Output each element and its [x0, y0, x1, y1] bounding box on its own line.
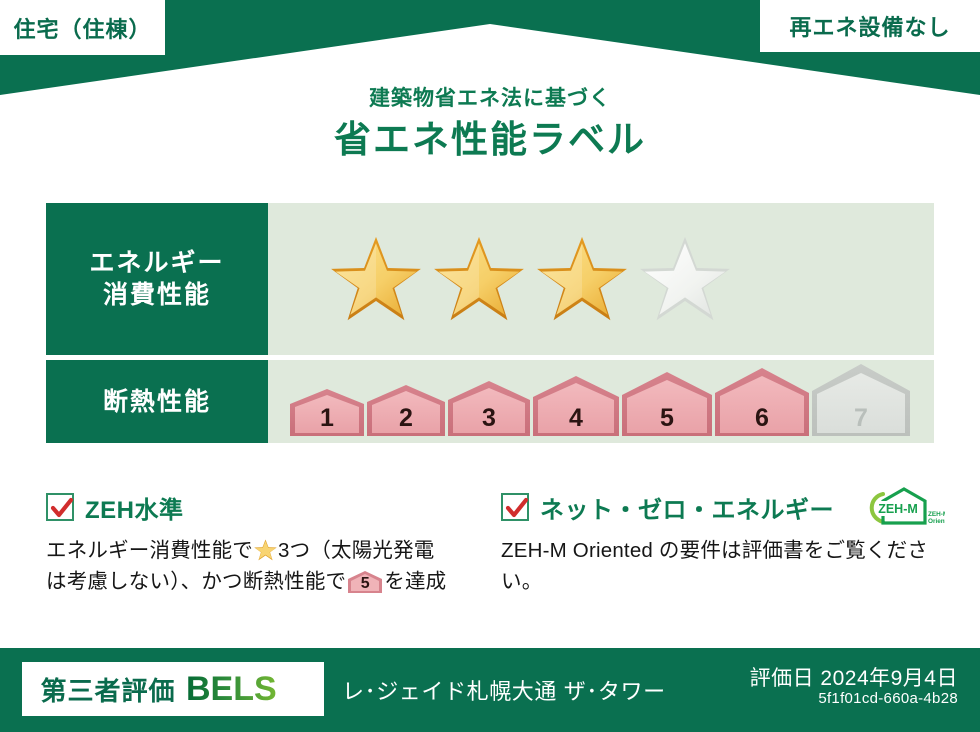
- bels-certification-plate: 第三者評価 BELS: [22, 662, 324, 716]
- label-title-block: 建築物省エネ法に基づく 省エネ性能ラベル: [0, 86, 980, 162]
- energy-rating-value: [268, 203, 934, 355]
- star-filled-icon: [433, 235, 525, 323]
- net-zero-energy-header: ネット・ゼロ・エネルギー ZEH-M ZEH-M Oriented: [501, 488, 936, 526]
- insulation-performance-label: 断熱性能: [46, 360, 268, 443]
- zeh-text-part2: 3つ（太陽光発電: [278, 539, 435, 562]
- performance-panel: エネルギー 消費性能: [46, 203, 934, 446]
- insulation-label-text: 断熱性能: [103, 386, 211, 418]
- energy-label-line2: 消費性能: [103, 279, 211, 311]
- insulation-performance-row: 断熱性能: [46, 360, 934, 443]
- renewable-energy-tag: 再エネ設備なし: [760, 0, 980, 52]
- zeh-standard-block: ZEH水準 エネルギー消費性能で3つ（太陽光発電 は考慮しない）、かつ断熱性能で…: [46, 488, 491, 628]
- inline-star-icon: [254, 539, 277, 561]
- zeh-text-part3: は考慮しない）、かつ断熱性能で: [46, 570, 346, 593]
- insulation-level-3: 3: [448, 379, 530, 441]
- inline-house-5-icon: 5: [348, 570, 382, 593]
- zeh-m-oriented-logo: ZEH-M ZEH-M Oriented: [853, 485, 945, 529]
- title-main: 省エネ性能ラベル: [0, 119, 980, 162]
- insulation-level-4: 4: [533, 374, 619, 441]
- insulation-level-5: 5: [622, 370, 712, 441]
- svg-text:ZEH-M: ZEH-M: [928, 511, 945, 518]
- insulation-level-scale: 1 2 3: [290, 362, 910, 441]
- criteria-section: ZEH水準 エネルギー消費性能で3つ（太陽光発電 は考慮しない）、かつ断熱性能で…: [46, 488, 936, 628]
- check-icon: [505, 496, 529, 520]
- net-zero-energy-checkbox[interactable]: [501, 493, 529, 521]
- svg-text:Oriented: Oriented: [928, 518, 945, 525]
- star-filled-icon: [330, 235, 422, 323]
- evaluation-date: 評価日 2024年9月4日: [750, 662, 958, 692]
- third-party-eval-label: 第三者評価: [40, 671, 175, 708]
- bels-energy-label: 住宅（住棟） 再エネ設備なし 建築物省エネ法に基づく 省エネ性能ラベル エネルギ…: [0, 0, 980, 732]
- zeh-standard-checkbox[interactable]: [46, 493, 74, 521]
- zeh-text-part4: を達成: [384, 570, 446, 593]
- evaluation-id: 5f1f01cd-660a-4b28: [818, 690, 958, 707]
- net-zero-energy-block: ネット・ゼロ・エネルギー ZEH-M ZEH-M Oriented ZEH-M …: [491, 488, 936, 628]
- insulation-level-7: 7: [812, 362, 910, 441]
- building-type-tag: 住宅（住棟）: [0, 0, 165, 55]
- net-zero-energy-description: ZEH-M Oriented の要件は評価書をご覧ください。: [501, 535, 936, 597]
- energy-label-line1: エネルギー: [89, 247, 224, 279]
- zeh-standard-description: エネルギー消費性能で3つ（太陽光発電 は考慮しない）、かつ断熱性能で 5 を達成: [46, 535, 477, 597]
- check-icon: [50, 496, 74, 520]
- bels-logo: BELS: [186, 670, 306, 708]
- star-rating: [330, 235, 731, 323]
- building-name: レ･ジェイド札幌大通 ザ･タワー: [342, 674, 666, 706]
- inline-house-number: 5: [348, 572, 382, 596]
- energy-performance-label: エネルギー 消費性能: [46, 203, 268, 355]
- net-zero-energy-title: ネット・ゼロ・エネルギー: [540, 490, 834, 525]
- footer-bar: 第三者評価 BELS レ･ジェイド札幌大通 ザ･タワー 評価日 2024年9月4…: [0, 648, 980, 732]
- star-empty-icon: [639, 235, 731, 323]
- star-filled-icon: [536, 235, 628, 323]
- zeh-standard-title: ZEH水準: [85, 490, 184, 525]
- insulation-level-1: 1: [290, 387, 364, 441]
- insulation-rating-value: 1 2 3: [268, 360, 934, 443]
- zeh-text-part1: エネルギー消費性能で: [46, 539, 253, 562]
- svg-text:BELS: BELS: [186, 670, 277, 708]
- title-subtitle: 建築物省エネ法に基づく: [0, 86, 980, 111]
- insulation-level-2: 2: [367, 383, 445, 441]
- svg-text:ZEH-M: ZEH-M: [878, 502, 918, 516]
- zeh-standard-header: ZEH水準: [46, 488, 477, 526]
- energy-performance-row: エネルギー 消費性能: [46, 203, 934, 355]
- insulation-level-6: 6: [715, 366, 809, 441]
